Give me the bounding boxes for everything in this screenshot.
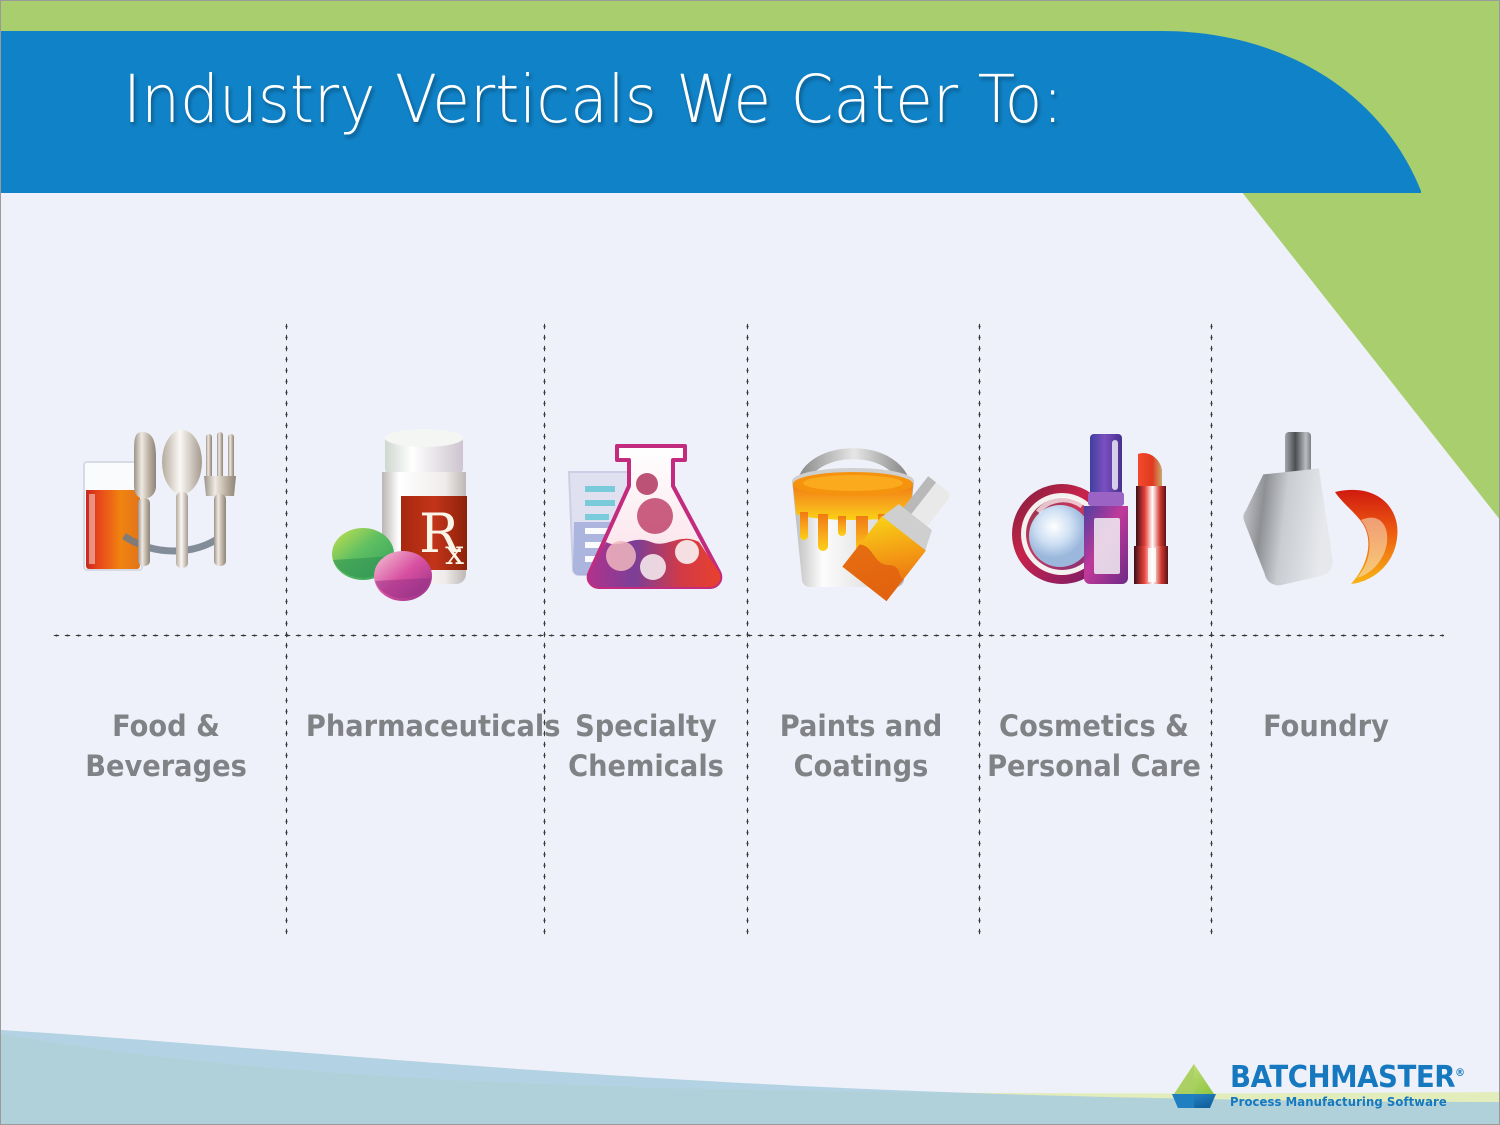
vertical-label-pharmaceuticals: Pharmaceuticals	[306, 706, 522, 746]
flask-and-beaker-icon	[531, 401, 761, 631]
label-line-1: Cosmetics &	[986, 706, 1202, 746]
registered-mark: ®	[1455, 1066, 1465, 1079]
vertical-label-paints-coatings: Paints and Coatings	[753, 706, 969, 786]
vertical-item-paints-coatings[interactable]: Paints and Coatings	[746, 401, 976, 631]
slide-canvas: Industry Verticals We Cater To:	[0, 0, 1500, 1125]
label-line-2: Beverages	[58, 746, 274, 786]
logo-tagline: Process Manufacturing Software	[1230, 1096, 1467, 1109]
batchmaster-logo[interactable]: BATCHMASTER® Process Manufacturing Softw…	[1166, 1060, 1485, 1112]
vertical-label-foundry: Foundry	[1218, 706, 1434, 746]
vertical-item-cosmetics-personal-care[interactable]: Cosmetics & Personal Care	[979, 401, 1209, 631]
vertical-item-pharmaceuticals[interactable]: R x Pharmaceuticals	[299, 401, 529, 631]
verticals-grid: Food & Beverages	[1, 1, 1500, 1001]
label-line-2: Personal Care	[986, 746, 1202, 786]
label-line-1: Foundry	[1218, 706, 1434, 746]
logo-name-text: BATCHMASTER	[1230, 1060, 1455, 1095]
page-title: Industry Verticals We Cater To:	[123, 61, 1063, 138]
juice-glass-and-cutlery-icon	[51, 401, 281, 631]
vertical-item-specialty-chemicals[interactable]: Specialty Chemicals	[531, 401, 761, 631]
vertical-label-cosmetics-personal-care: Cosmetics & Personal Care	[986, 706, 1202, 786]
pyramid-logo-icon	[1166, 1060, 1222, 1112]
label-line-1: Food &	[58, 706, 274, 746]
label-line-1: Pharmaceuticals	[306, 706, 522, 746]
label-line-1: Paints and	[753, 706, 969, 746]
logo-name: BATCHMASTER®	[1230, 1063, 1465, 1093]
vertical-item-food-beverages[interactable]: Food & Beverages	[51, 401, 281, 631]
vertical-label-specialty-chemicals: Specialty Chemicals	[538, 706, 754, 786]
rx-pill-bottle-icon: R x	[299, 401, 529, 631]
svg-text:x: x	[445, 533, 464, 573]
paint-bucket-and-brush-icon	[746, 401, 976, 631]
label-line-2: Coatings	[753, 746, 969, 786]
label-line-2: Chemicals	[538, 746, 754, 786]
molten-metal-ladle-icon	[1211, 401, 1441, 631]
label-line-1: Specialty	[538, 706, 754, 746]
lipstick-compact-nailpolish-icon	[979, 401, 1209, 631]
vertical-item-foundry[interactable]: Foundry	[1211, 401, 1441, 631]
logo-wordmark: BATCHMASTER® Process Manufacturing Softw…	[1230, 1063, 1485, 1109]
vertical-label-food-beverages: Food & Beverages	[58, 706, 274, 786]
